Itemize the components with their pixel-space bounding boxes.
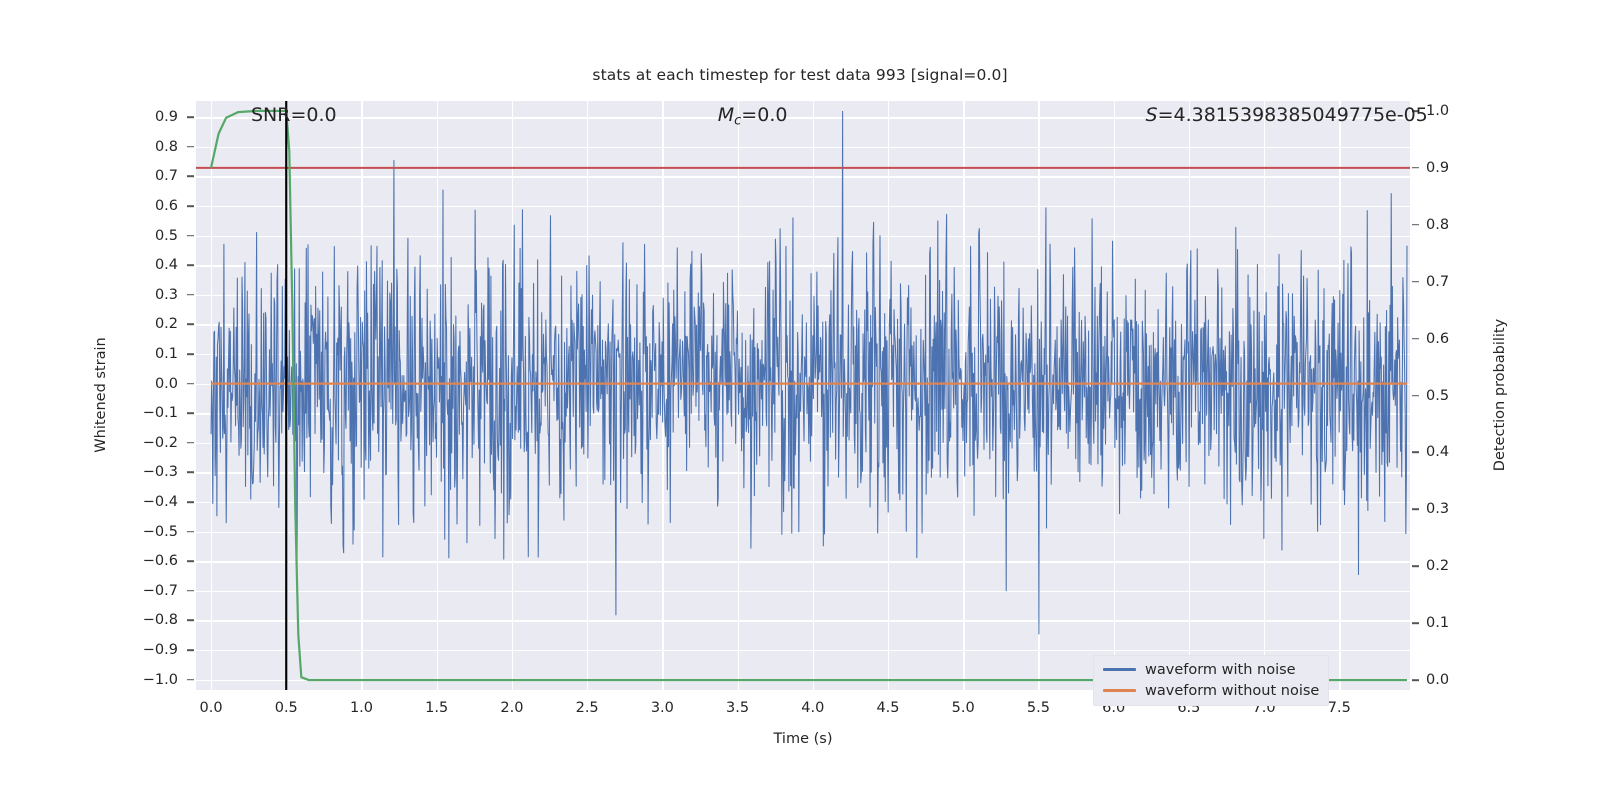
y-tick-mark-left [187, 264, 194, 266]
x-tick-label: 4.0 [783, 700, 843, 716]
legend[interactable]: waveform with noisewaveform without nois… [1093, 655, 1329, 706]
x-tick-label: 2.0 [482, 700, 542, 716]
y-tick-mark-right [1412, 509, 1419, 511]
annotation-score-value: 4.3815398385049775e-05 [1174, 104, 1428, 126]
y-tick-label-right: 0.5 [1426, 388, 1486, 404]
y-tick-mark-left [187, 176, 194, 178]
annotation-snr-label: SNR= [251, 104, 306, 126]
y-tick-label-right: 0.3 [1426, 501, 1486, 517]
y-tick-mark-left [187, 560, 194, 562]
annotation-chirp-mass-symbol: M [718, 104, 734, 126]
y-tick-mark-left [187, 116, 194, 118]
y-tick-label-left: 0.3 [118, 287, 178, 303]
y-tick-mark-left [187, 324, 194, 326]
y-tick-mark-left [187, 235, 194, 237]
y-tick-label-right: 0.0 [1426, 672, 1486, 688]
legend-item[interactable]: waveform without noise [1103, 681, 1319, 700]
y-tick-mark-left [187, 472, 194, 474]
annotation-score: S=4.3815398385049775e-05 [1146, 104, 1428, 126]
y-tick-label-left: −0.7 [118, 583, 178, 599]
y-tick-mark-left [187, 590, 194, 592]
legend-color-swatch [1103, 689, 1136, 692]
annotation-score-equals: = [1158, 104, 1174, 126]
y-tick-label-left: −0.1 [118, 405, 178, 421]
x-tick-label: 3.5 [708, 700, 768, 716]
x-tick-label: 5.0 [933, 700, 993, 716]
y-tick-label-left: −1.0 [118, 672, 178, 688]
annotation-snr: SNR=0.0 [251, 104, 337, 126]
y-tick-mark-right [1412, 167, 1419, 169]
legend-color-swatch [1103, 668, 1136, 671]
y-tick-label-left: 0.8 [118, 139, 178, 155]
y-tick-mark-right [1412, 338, 1419, 340]
y-tick-mark-left [187, 353, 194, 355]
y-tick-mark-left [187, 294, 194, 296]
y-tick-label-left: −0.4 [118, 494, 178, 510]
y-tick-label-left: 0.9 [118, 109, 178, 125]
y-tick-label-left: 0.7 [118, 168, 178, 184]
y-tick-mark-right [1412, 679, 1419, 681]
x-tick-label: 3.0 [632, 700, 692, 716]
y-axis-label-right: Detection probability [1492, 319, 1508, 471]
y-tick-mark-left [187, 501, 194, 503]
x-tick-label: 4.5 [858, 700, 918, 716]
y-tick-label-left: −0.2 [118, 435, 178, 451]
x-tick-label: 0.0 [181, 700, 241, 716]
y-tick-label-left: 0.5 [118, 228, 178, 244]
y-tick-label-right: 0.1 [1426, 615, 1486, 631]
y-tick-mark-left [187, 620, 194, 622]
y-tick-label-right: 0.2 [1426, 558, 1486, 574]
y-tick-mark-right [1412, 452, 1419, 454]
plot-area[interactable] [196, 101, 1410, 690]
annotation-snr-value: 0.0 [306, 104, 336, 126]
y-tick-mark-left [187, 442, 194, 444]
y-tick-label-left: −0.3 [118, 464, 178, 480]
annotation-chirp-mass: Mc=0.0 [718, 104, 788, 129]
y-tick-label-left: −0.5 [118, 524, 178, 540]
series-waveform-with-noise [211, 111, 1407, 634]
y-tick-label-left: −0.6 [118, 553, 178, 569]
annotation-chirp-mass-equals: = [741, 104, 757, 126]
y-tick-mark-left [187, 531, 194, 533]
y-tick-label-left: −0.8 [118, 612, 178, 628]
legend-item[interactable]: waveform with noise [1103, 660, 1319, 679]
y-tick-label-right: 0.9 [1426, 160, 1486, 176]
y-tick-mark-left [187, 146, 194, 148]
y-tick-label-right: 0.7 [1426, 274, 1486, 290]
annotation-score-symbol: S [1146, 104, 1158, 126]
annotation-chirp-mass-subscript: c [734, 114, 741, 129]
legend-label: waveform without noise [1145, 683, 1319, 699]
y-tick-label-left: 0.1 [118, 346, 178, 362]
figure-title: stats at each timestep for test data 993… [0, 66, 1600, 84]
y-tick-mark-right [1412, 224, 1419, 226]
y-tick-label-left: 0.0 [118, 376, 178, 392]
data-series-layer [196, 101, 1410, 690]
y-tick-mark-left [187, 412, 194, 414]
y-tick-label-right: 0.4 [1426, 444, 1486, 460]
x-axis-label: Time (s) [774, 731, 833, 747]
x-tick-label: 2.5 [557, 700, 617, 716]
y-tick-label-right: 1.0 [1426, 103, 1486, 119]
y-tick-label-right: 0.8 [1426, 217, 1486, 233]
y-tick-mark-right [1412, 281, 1419, 283]
y-tick-label-left: 0.4 [118, 257, 178, 273]
y-axis-label-left: Whitened strain [93, 337, 109, 452]
y-tick-mark-right [1412, 395, 1419, 397]
legend-label: waveform with noise [1145, 662, 1296, 678]
annotation-chirp-mass-value: 0.0 [757, 104, 787, 126]
y-tick-mark-right [1412, 565, 1419, 567]
y-tick-label-left: −0.9 [118, 642, 178, 658]
y-tick-label-right: 0.6 [1426, 331, 1486, 347]
figure-canvas: stats at each timestep for test data 993… [0, 0, 1600, 800]
y-tick-mark-left [187, 649, 194, 651]
y-tick-mark-left [187, 679, 194, 681]
y-tick-label-left: 0.6 [118, 198, 178, 214]
x-tick-label: 1.0 [331, 700, 391, 716]
x-tick-label: 0.5 [256, 700, 316, 716]
y-tick-mark-left [187, 205, 194, 207]
y-tick-mark-right [1412, 622, 1419, 624]
x-tick-label: 5.5 [1008, 700, 1068, 716]
y-tick-label-left: 0.2 [118, 316, 178, 332]
y-tick-mark-left [187, 383, 194, 385]
x-tick-label: 1.5 [407, 700, 467, 716]
